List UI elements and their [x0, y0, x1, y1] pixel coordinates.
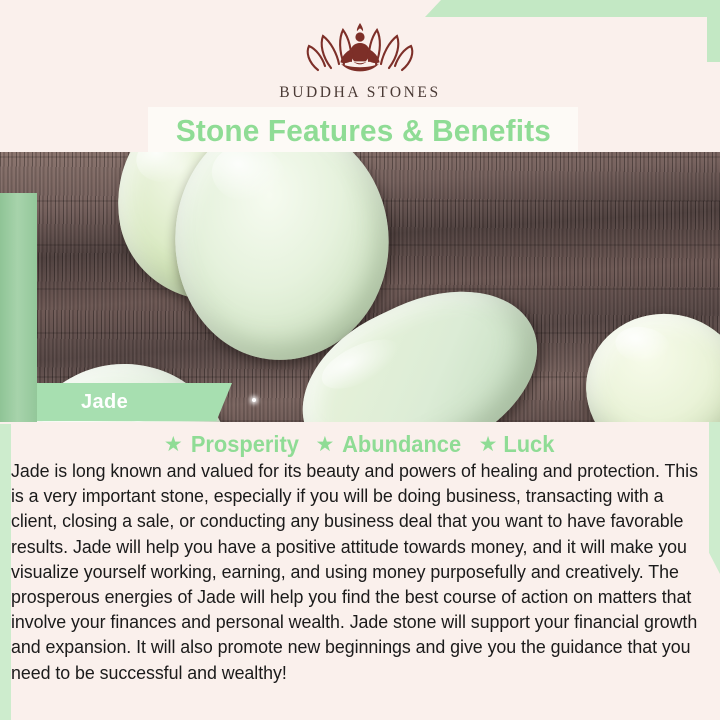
section-title-band: Stone Features & Benefits	[148, 107, 578, 155]
benefit-item: ★ Luck	[475, 431, 561, 458]
star-icon: ★	[164, 434, 183, 455]
benefit-label: Abundance	[342, 431, 461, 458]
benefits-row: ★ Prosperity ★ Abundance ★ Luck	[0, 431, 720, 458]
infographic-card: BUDDHA STONES Stone Features & Benefits …	[0, 0, 720, 720]
decorative-top-right-banner	[425, 0, 720, 17]
stone-name-band: Jade	[37, 383, 232, 421]
page-title: Stone Features & Benefits	[175, 113, 550, 149]
decorative-left-lower-bar	[0, 424, 11, 720]
stone-name-label: Jade	[81, 391, 128, 414]
lotus-meditation-icon	[298, 16, 422, 82]
highlight-sparkle	[252, 398, 256, 402]
benefit-label: Luck	[504, 431, 555, 458]
jade-tumbled-stones-photo	[0, 152, 720, 422]
benefit-item: ★ Abundance	[312, 431, 469, 458]
benefit-label: Prosperity	[191, 431, 299, 458]
brand-name: BUDDHA STONES	[0, 84, 720, 102]
star-icon: ★	[316, 434, 335, 455]
star-icon: ★	[479, 434, 498, 455]
decorative-photo-left-strip	[0, 193, 37, 422]
stone-description: Jade is long known and valued for its be…	[11, 459, 699, 686]
benefit-item: ★ Prosperity	[160, 431, 306, 458]
brand-logo-block: BUDDHA STONES	[0, 16, 720, 102]
